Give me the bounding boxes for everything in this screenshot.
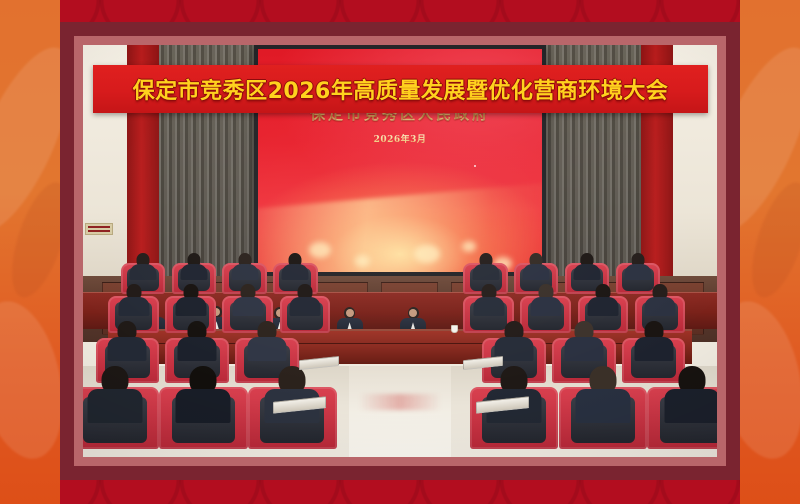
led-date: 2026年3月 [258, 132, 542, 145]
conference-photo: 中共保定市竞秀区委 保定市竞秀区人民政府 2026年3月 [83, 45, 717, 457]
left-orange-strip [0, 0, 60, 504]
photo-frame-inner: 中共保定市竞秀区委 保定市竞秀区人民政府 2026年3月 [74, 36, 726, 466]
screenshot-root: 中共保定市竞秀区委 保定市竞秀区人民政府 2026年3月 [0, 0, 800, 504]
photo-frame-outer: 中共保定市竞秀区委 保定市竞秀区人民政府 2026年3月 [60, 22, 740, 480]
wall-sign-icon [85, 223, 113, 235]
right-orange-strip [740, 0, 800, 504]
title-banner: 保定市竞秀区2026年高质量发展暨优化营商环境大会 [93, 65, 708, 113]
audience-seating [83, 251, 717, 457]
banner-title-text: 保定市竞秀区2026年高质量发展暨优化营商环境大会 [133, 73, 669, 105]
